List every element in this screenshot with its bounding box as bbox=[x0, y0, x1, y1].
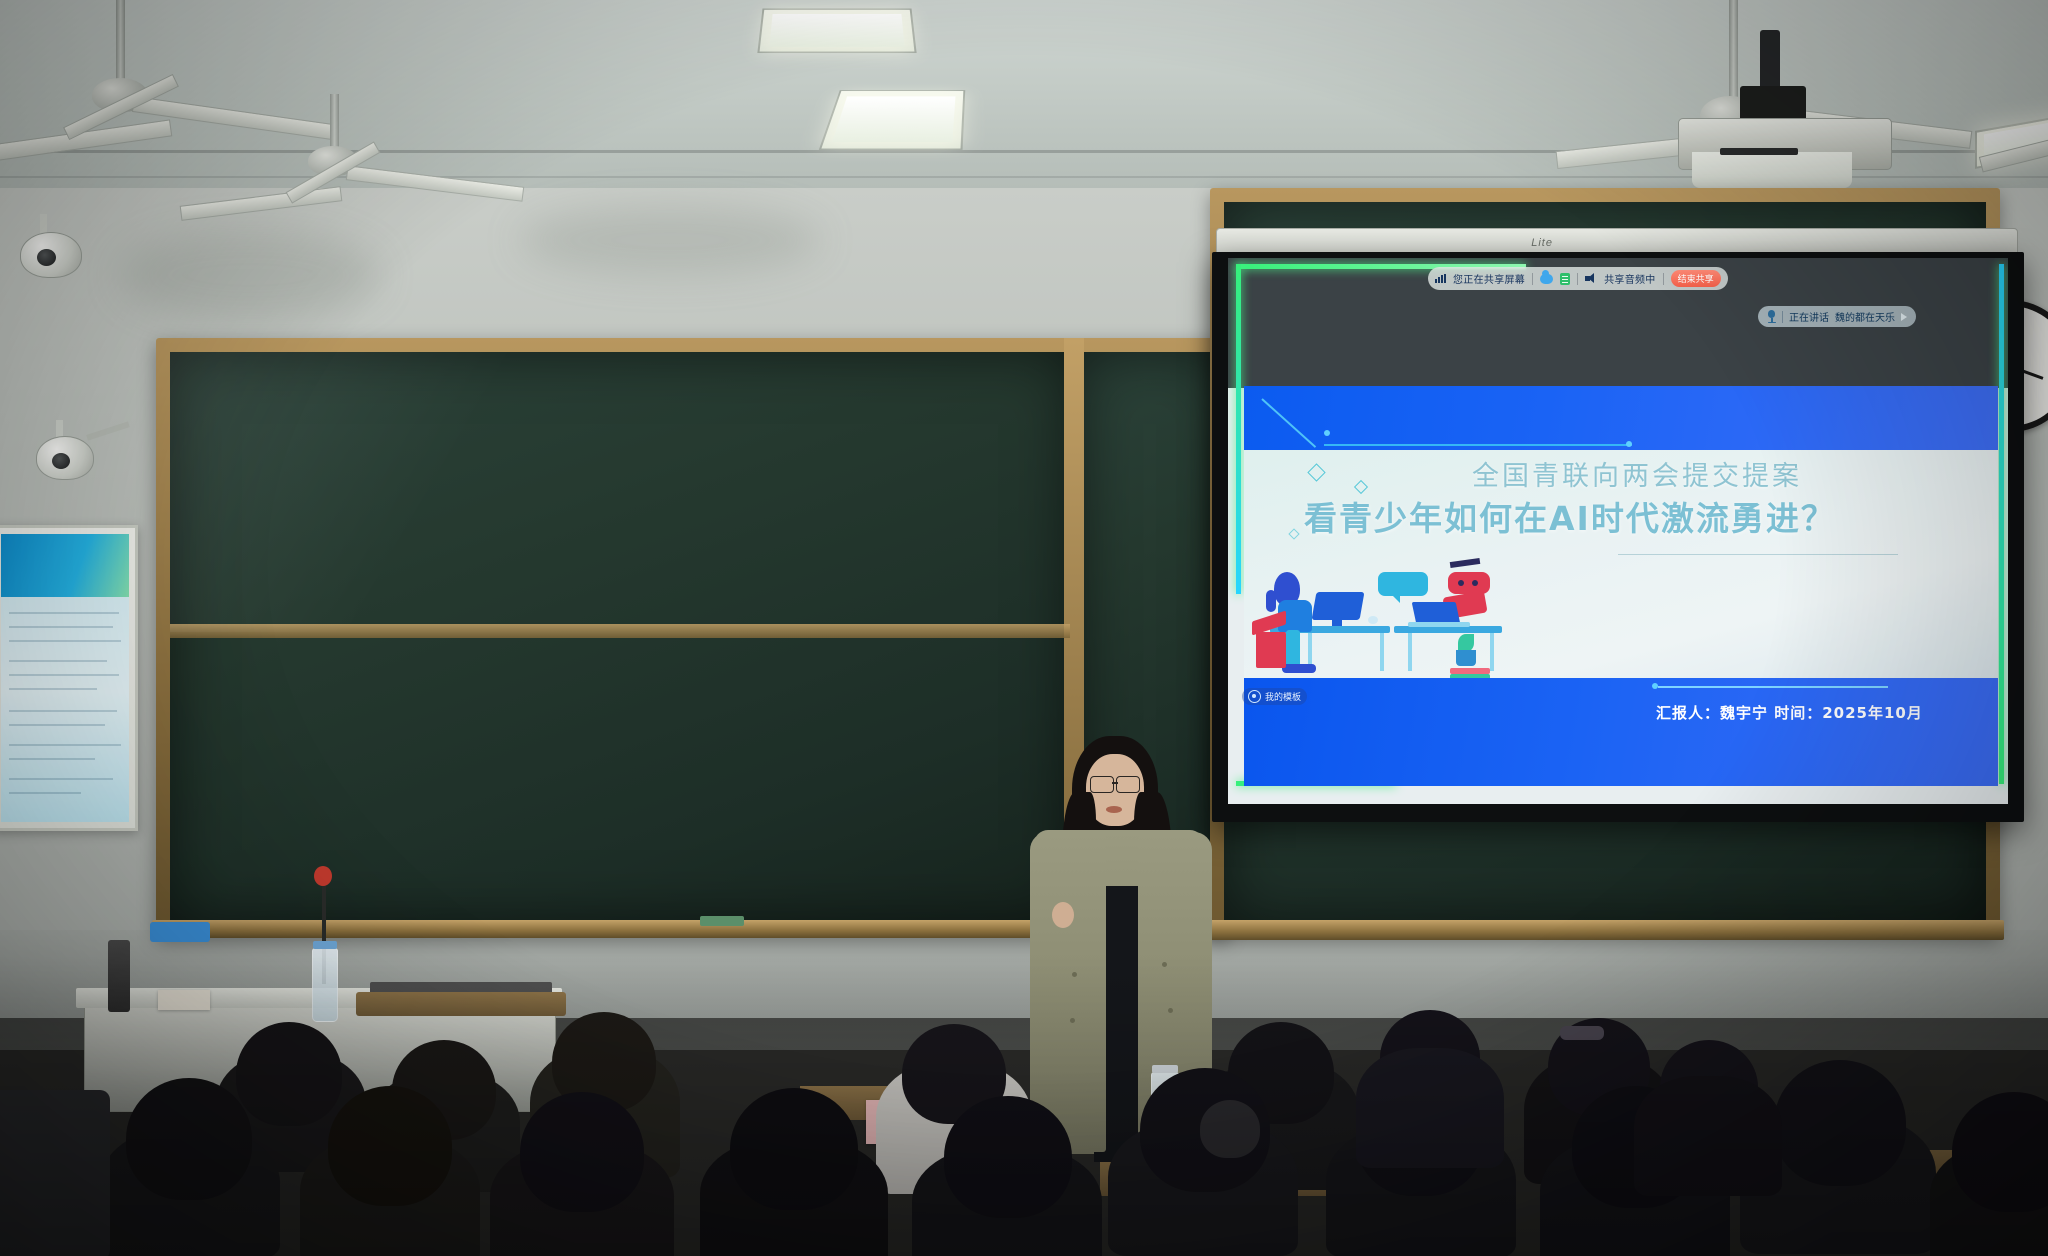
share-audio-label: 共享音频中 bbox=[1604, 271, 1656, 286]
illus-speech-bubble bbox=[1378, 572, 1428, 596]
projected-slide: 您正在共享屏幕 共享音频中 结束共享 正在讲话 魏的都在天乐 bbox=[1228, 258, 2008, 804]
audience-head bbox=[520, 1092, 644, 1212]
hair-clip bbox=[1560, 1026, 1604, 1040]
coat-button bbox=[1072, 972, 1077, 977]
papers-on-podium[interactable] bbox=[158, 990, 210, 1010]
end-share-button[interactable]: 结束共享 bbox=[1671, 270, 1721, 287]
fluorescent-light-center-lower bbox=[819, 90, 965, 150]
wall-stain bbox=[120, 230, 380, 320]
slide-watermark: 我的模板 bbox=[1242, 688, 1307, 705]
blackboard-glare bbox=[170, 352, 590, 632]
illus-monitor bbox=[1312, 592, 1365, 620]
presenter-hand bbox=[1052, 902, 1074, 928]
active-speaker-name: 魏的都在天乐 bbox=[1835, 309, 1895, 324]
coat-button bbox=[1162, 962, 1167, 967]
projector-lens bbox=[1692, 152, 1852, 188]
document-icon[interactable] bbox=[1560, 273, 1570, 285]
fan-rod-right bbox=[1729, 0, 1738, 100]
speaking-status-label: 正在讲话 bbox=[1789, 309, 1829, 324]
presenter-mouth bbox=[1106, 806, 1122, 813]
audience-head bbox=[1774, 1060, 1906, 1186]
chalk-tray-right bbox=[1208, 920, 2004, 940]
dome-camera-lower bbox=[36, 436, 94, 480]
illus-chair bbox=[1256, 632, 1286, 668]
eraser[interactable] bbox=[150, 922, 210, 942]
illus-desk-leg bbox=[1380, 633, 1384, 671]
slide-title: 全国青联向两会提交提案 bbox=[1472, 454, 1802, 493]
slide-deco-dot bbox=[1626, 441, 1632, 447]
audience-head bbox=[1200, 1100, 1260, 1158]
audience-head bbox=[944, 1096, 1072, 1218]
chevron-icon[interactable] bbox=[1901, 313, 1907, 321]
audience-head bbox=[126, 1078, 252, 1200]
share-status-label: 您正在共享屏幕 bbox=[1453, 271, 1525, 286]
slide-deco-line-bottom bbox=[1658, 686, 1888, 688]
microphone-head bbox=[314, 866, 332, 886]
lectern-shelf bbox=[356, 992, 566, 1016]
presenter-glasses-bridge bbox=[1112, 782, 1118, 784]
thermos[interactable] bbox=[108, 940, 130, 1012]
illus-desk-leg bbox=[1408, 633, 1412, 671]
illus-plant-pot bbox=[1456, 650, 1476, 666]
illus-laptop-base bbox=[1408, 622, 1470, 627]
slide-deco-line bbox=[1324, 444, 1632, 446]
watermark-ring-icon bbox=[1248, 690, 1261, 703]
audience-head bbox=[1952, 1092, 2048, 1212]
camera-stem bbox=[40, 214, 47, 234]
watermark-label: 我的模板 bbox=[1265, 690, 1301, 703]
coat-button bbox=[1070, 1018, 1075, 1023]
screen-brand-label: Lite bbox=[1531, 237, 1553, 249]
screen-share-toolbar[interactable]: 您正在共享屏幕 共享音频中 结束共享 bbox=[1428, 267, 1728, 290]
illus-robot-eye bbox=[1458, 580, 1464, 586]
active-speaker-toolbar[interactable]: 正在讲话 魏的都在天乐 bbox=[1758, 306, 1916, 327]
fan-rod-center bbox=[330, 94, 339, 152]
illus-robot-eye bbox=[1472, 580, 1478, 586]
speaker-icon bbox=[1585, 273, 1597, 284]
illus-robot-body bbox=[1448, 572, 1490, 594]
classroom-photo: 10 9 8 bbox=[0, 0, 2048, 1256]
audience-shoulder bbox=[1356, 1048, 1504, 1168]
slide-bottom-band bbox=[1244, 678, 1998, 786]
slide-deco-dot bbox=[1324, 430, 1330, 436]
audience-head bbox=[328, 1086, 452, 1206]
slide-subtitle: 看青少年如何在AI时代激流勇进？ bbox=[1304, 492, 1836, 540]
audience-head bbox=[236, 1022, 342, 1126]
illus-monitor-stand bbox=[1332, 618, 1342, 626]
slide-footer: 汇报人：魏宇宁 时间：2025年10月 bbox=[1656, 702, 1923, 723]
coat-button bbox=[1168, 1008, 1173, 1013]
dome-camera-upper bbox=[20, 232, 82, 278]
audience-head bbox=[730, 1088, 858, 1210]
illus-laptop bbox=[1412, 602, 1461, 624]
fluorescent-light-center bbox=[757, 8, 916, 53]
illus-person-braid bbox=[1266, 590, 1276, 612]
signal-icon bbox=[1435, 274, 1446, 283]
presenter-glasses-left bbox=[1090, 776, 1114, 793]
projector-arm bbox=[1760, 30, 1780, 92]
screen-share-glow-left bbox=[1236, 264, 1241, 594]
fan-rod-left bbox=[116, 0, 125, 84]
illus-graduation-cap bbox=[1450, 558, 1481, 568]
microphone-icon[interactable] bbox=[1767, 310, 1776, 323]
illus-person-foot bbox=[1282, 664, 1316, 673]
screen-share-glow-right bbox=[1999, 264, 2004, 784]
notice-board bbox=[0, 525, 138, 831]
audience-shoulder bbox=[1634, 1076, 1782, 1196]
illus-cup bbox=[1368, 616, 1378, 624]
slide-underline bbox=[1618, 554, 1898, 555]
chalk-piece[interactable] bbox=[700, 916, 744, 926]
slide-deco-dot bbox=[1652, 683, 1658, 689]
slide-top-band bbox=[1244, 386, 1998, 450]
cloud-icon[interactable] bbox=[1540, 274, 1553, 284]
water-bottle-podium[interactable] bbox=[312, 948, 338, 1022]
presenter-glasses-right bbox=[1116, 776, 1140, 793]
chair-back bbox=[0, 1090, 110, 1256]
illus-desk-leg bbox=[1490, 633, 1494, 671]
wall-stain bbox=[520, 205, 820, 275]
illus-desk bbox=[1394, 626, 1502, 633]
slide-illustration bbox=[1252, 552, 1502, 682]
projector-ports bbox=[1720, 148, 1798, 155]
